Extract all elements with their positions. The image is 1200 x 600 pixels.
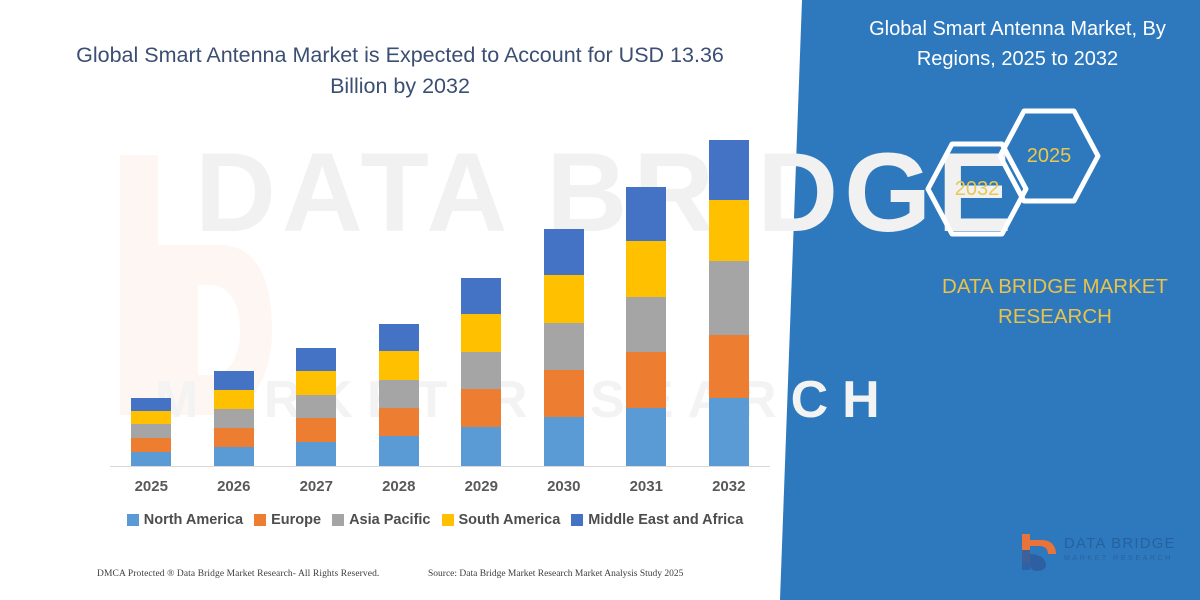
chart-legend: North AmericaEuropeAsia PacificSouth Ame… [100, 512, 770, 528]
stacked-bar [379, 324, 419, 467]
bar-segment [296, 395, 336, 419]
bar-segment [131, 424, 171, 438]
bar-column-2029 [440, 278, 522, 467]
footer-source: Source: Data Bridge Market Research Mark… [428, 569, 683, 579]
legend-item[interactable]: South America [442, 512, 561, 528]
footer-copyright: DMCA Protected ® Data Bridge Market Rese… [97, 569, 379, 579]
bar-segment [461, 278, 501, 314]
bar-column-2025 [110, 398, 192, 467]
logo-text-line-2: MARKET RESEARCH [1064, 555, 1176, 562]
bar-segment [214, 409, 254, 428]
legend-swatch-icon [332, 514, 344, 526]
stacked-bar [461, 278, 501, 467]
bar-segment [626, 187, 666, 241]
legend-swatch-icon [442, 514, 454, 526]
bar-segment [544, 370, 584, 417]
stacked-bar [296, 348, 336, 467]
legend-item[interactable]: Middle East and Africa [571, 512, 743, 528]
bar-column-2028 [358, 324, 440, 467]
bar-segment [379, 436, 419, 467]
bar-segment [379, 380, 419, 408]
bar-segment [379, 351, 419, 379]
bar-group [110, 140, 770, 467]
x-axis-label-2026: 2026 [193, 478, 275, 495]
x-axis-label-2027: 2027 [275, 478, 357, 495]
legend-item[interactable]: Europe [254, 512, 321, 528]
plot-area [110, 140, 770, 467]
bar-segment [709, 200, 749, 261]
bar-segment [709, 335, 749, 398]
legend-label: North America [144, 512, 243, 528]
bar-column-2027 [275, 348, 357, 467]
stacked-bar [214, 371, 254, 467]
logo-text-line-1: DATA BRIDGE [1064, 535, 1176, 552]
bar-column-2031 [605, 187, 687, 467]
hexagon-2025-label: 2025 [997, 108, 1101, 204]
legend-swatch-icon [571, 514, 583, 526]
company-logo: DATA BRIDGE MARKET RESEARCH [1012, 530, 1187, 574]
stacked-bar [626, 187, 666, 467]
bar-segment [461, 314, 501, 352]
bar-segment [626, 297, 666, 353]
legend-label: Asia Pacific [349, 512, 430, 528]
bar-segment [296, 418, 336, 442]
x-axis-label-2025: 2025 [110, 478, 192, 495]
bar-segment [709, 140, 749, 200]
legend-label: South America [459, 512, 561, 528]
bar-column-2026 [193, 371, 275, 467]
stacked-bar [709, 140, 749, 467]
bar-segment [544, 229, 584, 275]
brand-line-1: DATA BRIDGE MARKET [942, 275, 1168, 298]
bar-segment [626, 241, 666, 297]
bar-segment [131, 411, 171, 425]
x-axis-labels: 20252026202720282029203020312032 [110, 473, 770, 499]
bar-segment [214, 371, 254, 389]
hexagon-group: 2032 2025 [925, 108, 1105, 238]
bar-segment [544, 275, 584, 322]
x-axis-label-2029: 2029 [440, 478, 522, 495]
bar-segment [131, 438, 171, 452]
bar-segment [544, 323, 584, 370]
bar-segment [379, 324, 419, 351]
bar-segment [461, 427, 501, 467]
bar-segment [214, 390, 254, 409]
x-axis-label-2032: 2032 [688, 478, 770, 495]
x-axis-label-2030: 2030 [523, 478, 605, 495]
brand-name: DATA BRIDGE MARKET RESEARCH [905, 272, 1200, 332]
bar-segment [461, 389, 501, 427]
bar-segment [131, 398, 171, 411]
bar-column-2032 [688, 140, 770, 467]
bar-segment [709, 398, 749, 467]
x-axis-label-2028: 2028 [358, 478, 440, 495]
bar-segment [379, 408, 419, 436]
stacked-bar [544, 229, 584, 467]
legend-swatch-icon [254, 514, 266, 526]
x-axis-line [110, 466, 770, 467]
legend-label: Middle East and Africa [588, 512, 743, 528]
legend-swatch-icon [127, 514, 139, 526]
bar-segment [131, 452, 171, 467]
bar-segment [626, 352, 666, 408]
chart-title: Global Smart Antenna Market is Expected … [60, 40, 740, 102]
bar-segment [214, 447, 254, 467]
stacked-bar [131, 398, 171, 467]
legend-item[interactable]: North America [127, 512, 243, 528]
bar-segment [626, 408, 666, 467]
bar-segment [461, 352, 501, 390]
bar-segment [214, 428, 254, 447]
x-axis-label-2031: 2031 [605, 478, 687, 495]
bar-column-2030 [523, 229, 605, 467]
legend-label: Europe [271, 512, 321, 528]
bar-segment [544, 417, 584, 467]
bar-segment [709, 261, 749, 335]
bar-segment [296, 371, 336, 395]
brand-line-2: RESEARCH [998, 305, 1112, 328]
logo-mark-icon [1012, 532, 1058, 572]
infographic-root: DATA BRIDGE MARKET RESEARCH Global Smart… [0, 0, 1200, 600]
hexagon-2025: 2025 [997, 108, 1101, 204]
bar-segment [296, 442, 336, 467]
bar-segment [296, 348, 336, 371]
legend-item[interactable]: Asia Pacific [332, 512, 430, 528]
panel-title: Global Smart Antenna Market, By Regions,… [845, 14, 1190, 74]
logo-text: DATA BRIDGE MARKET RESEARCH [1064, 535, 1176, 562]
